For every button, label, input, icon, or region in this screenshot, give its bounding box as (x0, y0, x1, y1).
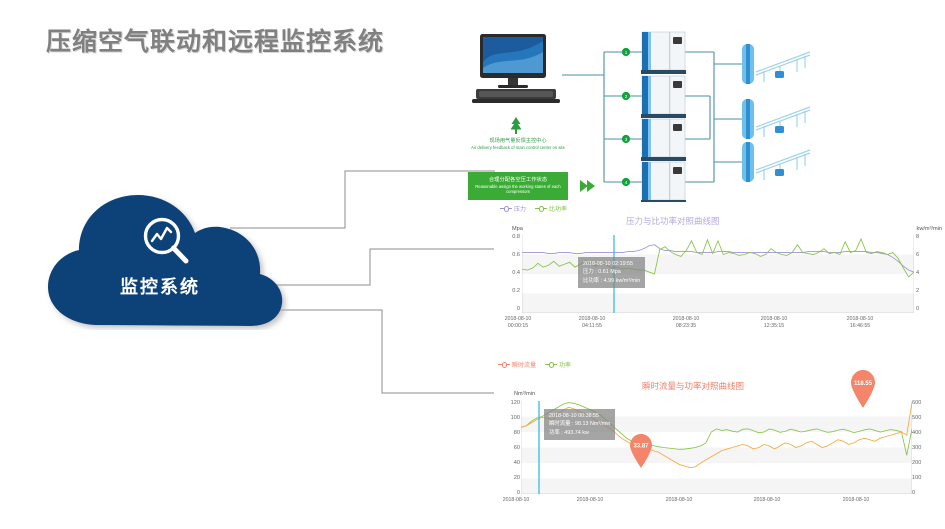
xtick-date: 2018-08-10 (737, 497, 797, 504)
xtick-date: 2018-08-10 (562, 316, 622, 323)
xtick-time: 04:11:55 (562, 323, 622, 330)
legend-label: 功率 (559, 360, 571, 369)
chart1-xtick: 2018-08-10 16:46:55 (830, 316, 890, 330)
chart1-ytick-right: 0 (916, 306, 932, 312)
pin-value: 118.55 (854, 381, 873, 387)
chart1-title: 压力与比功率对照曲线图 (626, 215, 720, 227)
tooltip-timestamp: 2018-08-10 00:38:55 (549, 412, 610, 420)
xtick-time: 08:23:35 (656, 323, 716, 330)
svg-text:1: 1 (625, 50, 628, 55)
chart1-legend[interactable]: 压力 比功率 (500, 204, 567, 213)
tooltip-line1: 瞬时流量 : 98.13 Nm³/min (549, 420, 610, 428)
xtick-date: 2018-08-10 (656, 316, 716, 323)
chart1-ytick-right: 2 (916, 288, 932, 294)
tooltip-line1: 压力 : 0.61 Mpa (583, 268, 640, 276)
chart2-ytick: 60 (496, 445, 520, 451)
svg-text:3: 3 (625, 137, 628, 142)
chart2-tooltip: 2018-08-10 00:38:55 瞬时流量 : 98.13 Nm³/min… (544, 409, 615, 440)
xtick-date: 2018-08-10 (830, 316, 890, 323)
chart2-ytick: 80 (496, 430, 520, 436)
chart2-ytick: 40 (496, 460, 520, 466)
chart2-xtick: 2018-08-10 (486, 497, 546, 504)
legend-item-pressure[interactable]: 压力 (500, 204, 526, 213)
chart2-y-left-unit: Nm³/min (514, 391, 535, 397)
cloud-label: 监控系统 (30, 273, 290, 299)
chart2-ytick: 120 (496, 400, 520, 406)
pin-value: 33.87 (633, 444, 649, 450)
chart2-ytick-right: 200 (912, 460, 932, 466)
chart1-xtick: 2018-08-10 12:35:15 (744, 316, 804, 330)
chart2-xtick: 2018-08-10 (826, 497, 886, 504)
chart1-tooltip: 2018-08-10 02:19:55 压力 : 0.61 Mpa 比功率 : … (578, 257, 645, 288)
xtick-date: 2018-08-10 (486, 497, 546, 504)
chart2-xtick: 2018-08-10 (649, 497, 709, 504)
legend-dash-icon (500, 208, 512, 209)
chart2-ytick-right: 100 (912, 475, 932, 481)
chart1-xtick: 2018-08-10 00:00:15 (488, 316, 548, 330)
chart1-ytick-right: 6 (916, 252, 932, 258)
tooltip-line2: 比功率 : 4.99 kw/m³/min (583, 277, 640, 285)
chart1-ytick: 0 (498, 306, 520, 312)
chart2-ytick-right: 500 (912, 415, 932, 421)
chart1-xtick: 2018-08-10 04:11:55 (562, 316, 622, 330)
xtick-date: 2018-08-10 (826, 497, 886, 504)
tooltip-line2: 功率 : 493.74 kw (549, 429, 610, 437)
chart2-ytick: 0 (496, 490, 520, 496)
chart1-ytick: 0.4 (498, 270, 520, 276)
chart2-ytick-right: 300 (912, 445, 932, 451)
chart2-pin-marker[interactable]: 33.87 (628, 434, 654, 468)
legend-label: 瞬时流量 (512, 360, 536, 369)
legend-label: 压力 (514, 204, 526, 213)
chart2-title: 瞬时流量与功率对照曲线图 (642, 380, 744, 392)
chart1-y-right-unit: kw/m³/min (917, 226, 942, 232)
legend-item-specific-power[interactable]: 比功率 (535, 204, 567, 213)
chart1-ytick: 0.8 (498, 234, 520, 240)
chart2-xtick: 2018-08-10 (737, 497, 797, 504)
legend-dash-icon (545, 364, 557, 365)
legend-dash-icon (535, 208, 547, 209)
svg-text:4: 4 (625, 180, 628, 185)
legend-item-power[interactable]: 功率 (545, 360, 571, 369)
chart2-legend[interactable]: 瞬时流量 功率 (498, 360, 571, 369)
magnifier-chart-icon (138, 213, 194, 269)
pressure-vs-specific-power-chart: 压力 比功率 压力与比功率对照曲线图 Mpa kw/m³/min 0.8 0.6… (494, 202, 944, 342)
xtick-date: 2018-08-10 (488, 316, 548, 323)
chart2-ytick-right: 400 (912, 430, 932, 436)
instant-flow-vs-power-chart: 瞬时流量 功率 瞬时流量与功率对照曲线图 Nm³/min 120 100 80 … (494, 358, 944, 528)
piping-network: 1 2 3 4 (452, 22, 944, 207)
xtick-time: 16:46:55 (830, 323, 890, 330)
chart2-xtick: 2018-08-10 (560, 497, 620, 504)
chart2-ytick: 20 (496, 475, 520, 481)
chart1-xtick: 2018-08-10 08:23:35 (656, 316, 716, 330)
chart1-y-left-unit: Mpa (512, 226, 523, 232)
chart2-ytick-right: 600 (912, 400, 932, 406)
legend-dash-icon (498, 364, 510, 365)
chart1-ytick: 0.6 (498, 252, 520, 258)
legend-label: 比功率 (549, 204, 567, 213)
chart2-ytick: 100 (496, 415, 520, 421)
chart2-pin-marker[interactable]: 118.55 (849, 370, 877, 408)
page-title: 压缩空气联动和远程监控系统 (46, 22, 384, 58)
xtick-date: 2018-08-10 (560, 497, 620, 504)
tooltip-timestamp: 2018-08-10 02:19:55 (583, 260, 640, 268)
chart2-ytick-right: 0 (912, 490, 932, 496)
xtick-time: 00:00:15 (488, 323, 548, 330)
chart1-ytick-right: 4 (916, 270, 932, 276)
svg-text:2: 2 (625, 94, 628, 99)
legend-item-instant-flow[interactable]: 瞬时流量 (498, 360, 536, 369)
xtick-date: 2018-08-10 (649, 497, 709, 504)
xtick-date: 2018-08-10 (744, 316, 804, 323)
xtick-time: 12:35:15 (744, 323, 804, 330)
chart1-ytick-right: 8 (916, 234, 932, 240)
chart1-ytick: 0.2 (498, 288, 520, 294)
compressed-air-system-diagram: 现场用气量反馈主控中心 Air delivery feedback of mai… (452, 22, 944, 207)
monitoring-cloud[interactable]: 监控系统 (30, 185, 290, 330)
